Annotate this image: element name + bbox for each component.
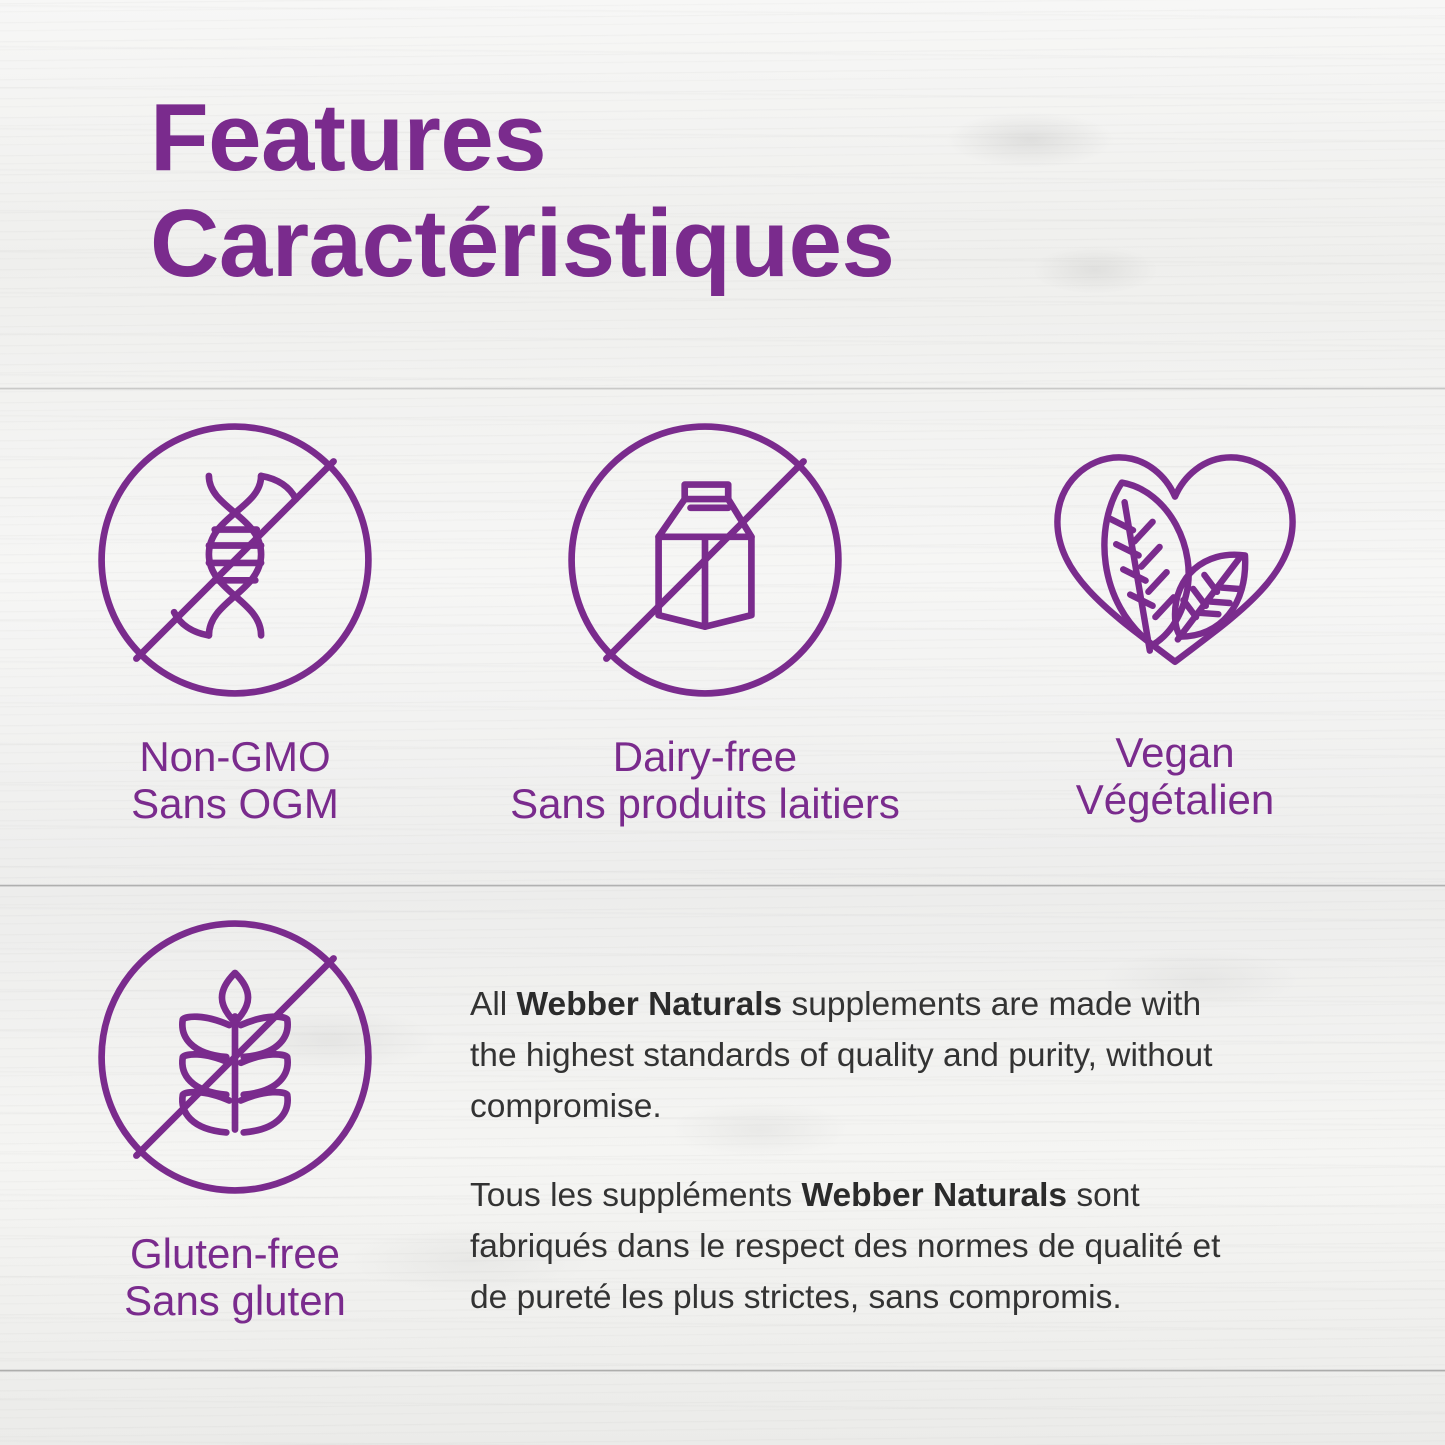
feature-item-non-gmo: Non-GMO Sans OGM (0, 415, 470, 827)
feature-infographic-page: Features Caractéristiques (0, 0, 1445, 1445)
feature-item-vegan: Vegan Végétalien (940, 415, 1410, 823)
feature-label-dairy-free: Dairy-free Sans produits laitiers (510, 733, 900, 827)
wood-plank-seam-bottom (0, 1369, 1445, 1372)
feature-label-en: Dairy-free (510, 733, 900, 780)
no-dairy-milk-carton-icon (560, 415, 850, 705)
feature-item-dairy-free: Dairy-free Sans produits laitiers (470, 415, 940, 827)
quality-statement-english: All Webber Naturals supplements are made… (470, 980, 1242, 1133)
feature-label-fr: Sans produits laitiers (510, 780, 900, 827)
feature-label-vegan: Vegan Végétalien (1076, 729, 1275, 823)
feature-label-fr: Végétalien (1076, 776, 1275, 823)
brand-name-en: Webber Naturals (517, 986, 783, 1023)
wood-plank-seam-top (0, 387, 1445, 390)
feature-row-bottom: Gluten-free Sans gluten All Webber Natur… (0, 912, 1445, 1324)
feature-row-top: Non-GMO Sans OGM (0, 415, 1445, 827)
wood-plank-seam-middle (0, 884, 1445, 887)
feature-label-en: Gluten-free (124, 1230, 346, 1277)
statement-fr-before: Tous les suppléments (470, 1177, 801, 1214)
feature-label-gluten-free: Gluten-free Sans gluten (124, 1230, 346, 1324)
vegan-heart-leaves-icon (1030, 421, 1320, 701)
feature-label-en: Vegan (1076, 729, 1275, 776)
page-title-english: Features (150, 88, 1310, 188)
feature-label-en: Non-GMO (131, 733, 339, 780)
no-gmo-dna-icon (90, 415, 380, 705)
feature-label-non-gmo: Non-GMO Sans OGM (131, 733, 339, 827)
brand-name-fr: Webber Naturals (801, 1177, 1067, 1214)
quality-statement-block: All Webber Naturals supplements are made… (470, 912, 1445, 1323)
statement-en-before: All (470, 986, 517, 1023)
no-gluten-wheat-icon (90, 912, 380, 1202)
page-title-french: Caractéristiques (150, 194, 1310, 294)
page-title: Features Caractéristiques (150, 88, 1310, 294)
feature-label-fr: Sans gluten (124, 1277, 346, 1324)
quality-statement-french: Tous les suppléments Webber Naturals son… (470, 1171, 1242, 1324)
feature-label-fr: Sans OGM (131, 780, 339, 827)
feature-item-gluten-free: Gluten-free Sans gluten (0, 912, 470, 1324)
